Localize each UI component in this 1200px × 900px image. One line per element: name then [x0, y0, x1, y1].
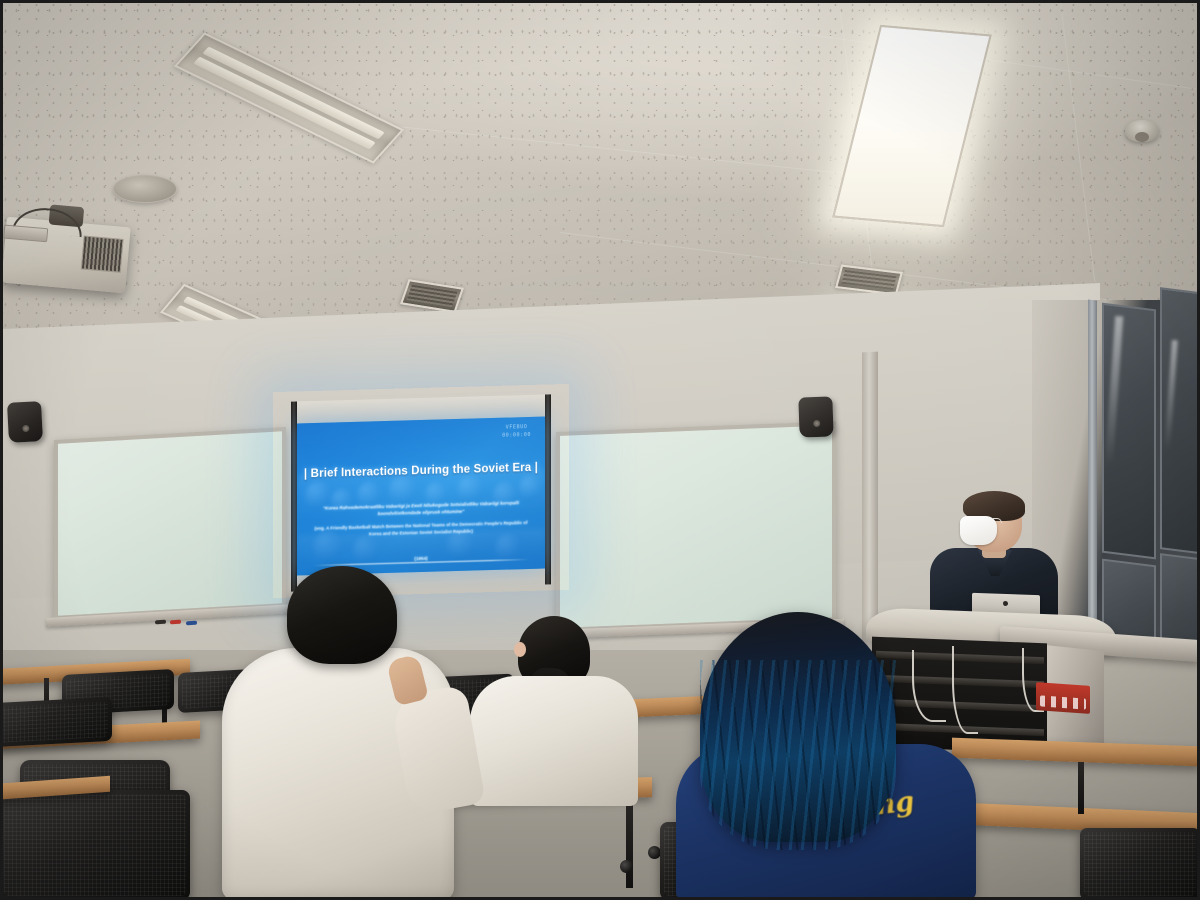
chair — [0, 790, 190, 900]
marker — [155, 620, 166, 625]
chair-mesh-back — [1084, 832, 1196, 896]
desk-frame — [1078, 762, 1084, 814]
whiteboard-left — [54, 427, 286, 620]
screen-rail-right — [545, 394, 551, 584]
smoke-detector-icon — [1125, 120, 1159, 142]
student-ponytail-ear — [514, 642, 526, 657]
red-crate — [1036, 682, 1090, 714]
wall-pillar — [862, 352, 878, 653]
student-ponytail-body — [470, 676, 638, 806]
chair-caster — [620, 860, 633, 873]
projection-screen: VFEBUO 00:00:00 | Brief Interactions Dur… — [291, 394, 551, 591]
marker — [170, 620, 181, 625]
student-blue-hair-strands — [700, 660, 896, 850]
chair-mesh-back — [0, 701, 108, 743]
chair — [0, 697, 112, 747]
chair — [1080, 828, 1200, 900]
whiteboard-right — [556, 421, 836, 632]
projector-plate — [3, 225, 48, 243]
wall-speaker-left — [7, 401, 43, 443]
presentation-slide: VFEBUO 00:00:00 | Brief Interactions Dur… — [297, 417, 545, 576]
vent-louvers — [407, 285, 458, 308]
vent-louvers — [841, 270, 896, 290]
projector-vent-grille — [81, 235, 124, 272]
classroom-photo: VFEBUO 00:00:00 | Brief Interactions Dur… — [0, 0, 1200, 900]
ceiling-speaker — [113, 175, 177, 203]
wall-speaker-right — [798, 396, 833, 437]
chair-mesh-back — [4, 794, 186, 896]
face-mask-icon — [960, 516, 997, 545]
desk-frame — [626, 796, 633, 888]
slide-color-veil — [297, 417, 545, 576]
slide-scoreboard-overlay: VFEBUO 00:00:00 — [502, 423, 531, 440]
scoreboard-line-2: 00:00:00 — [502, 431, 531, 440]
marker — [186, 621, 197, 626]
student-white-tshirt-hair — [287, 566, 397, 664]
ceiling-projector — [1, 217, 130, 294]
